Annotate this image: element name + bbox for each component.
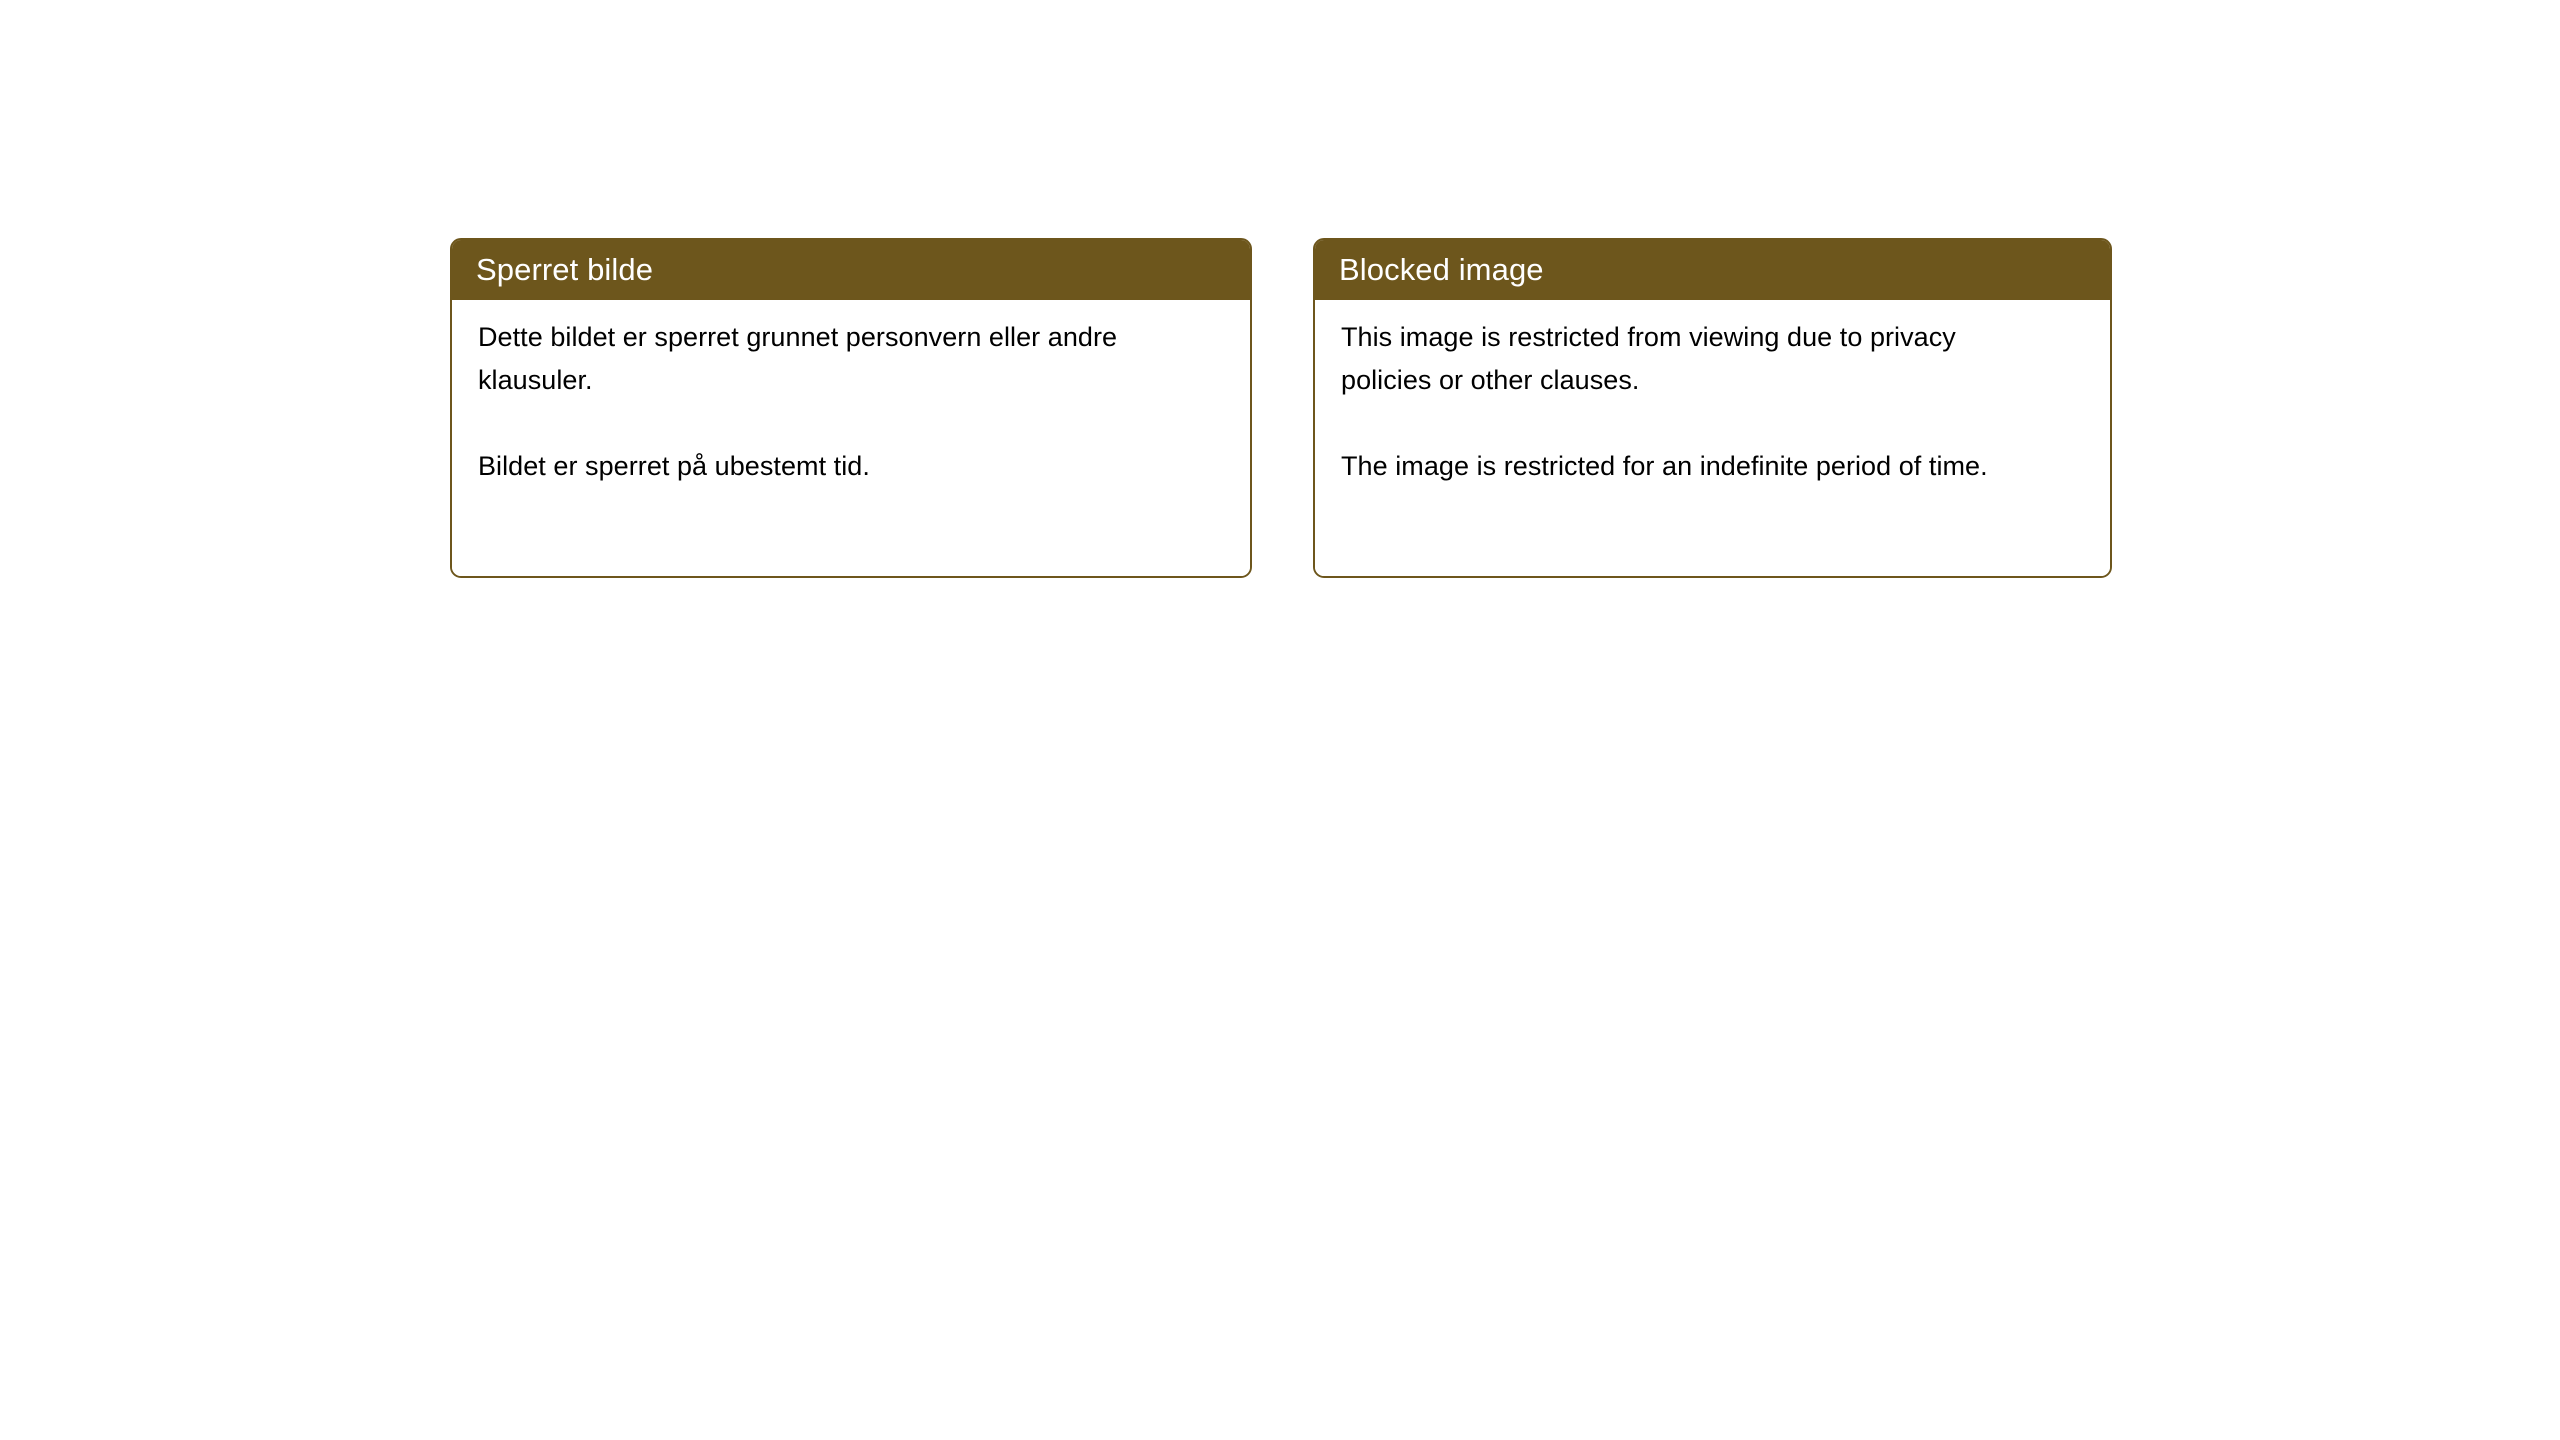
card-paragraph-secondary-norwegian: Bildet er sperret på ubestemt tid. — [478, 445, 1178, 488]
blocked-image-notice-card-norwegian: Sperret bilde Dette bildet er sperret gr… — [450, 238, 1252, 578]
blocked-image-notice-card-english: Blocked image This image is restricted f… — [1313, 238, 2112, 578]
card-paragraph-secondary-english: The image is restricted for an indefinit… — [1341, 445, 2041, 488]
card-title-norwegian: Sperret bilde — [476, 254, 653, 285]
card-header-norwegian: Sperret bilde — [450, 238, 1252, 300]
page-canvas: Sperret bilde Dette bildet er sperret gr… — [0, 0, 2560, 1440]
card-header-english: Blocked image — [1313, 238, 2112, 300]
card-body-english: This image is restricted from viewing du… — [1315, 300, 2110, 576]
card-body-norwegian: Dette bildet er sperret grunnet personve… — [452, 300, 1250, 576]
card-title-english: Blocked image — [1339, 254, 1544, 285]
card-paragraph-primary-norwegian: Dette bildet er sperret grunnet personve… — [478, 316, 1178, 402]
card-paragraph-primary-english: This image is restricted from viewing du… — [1341, 316, 2041, 402]
